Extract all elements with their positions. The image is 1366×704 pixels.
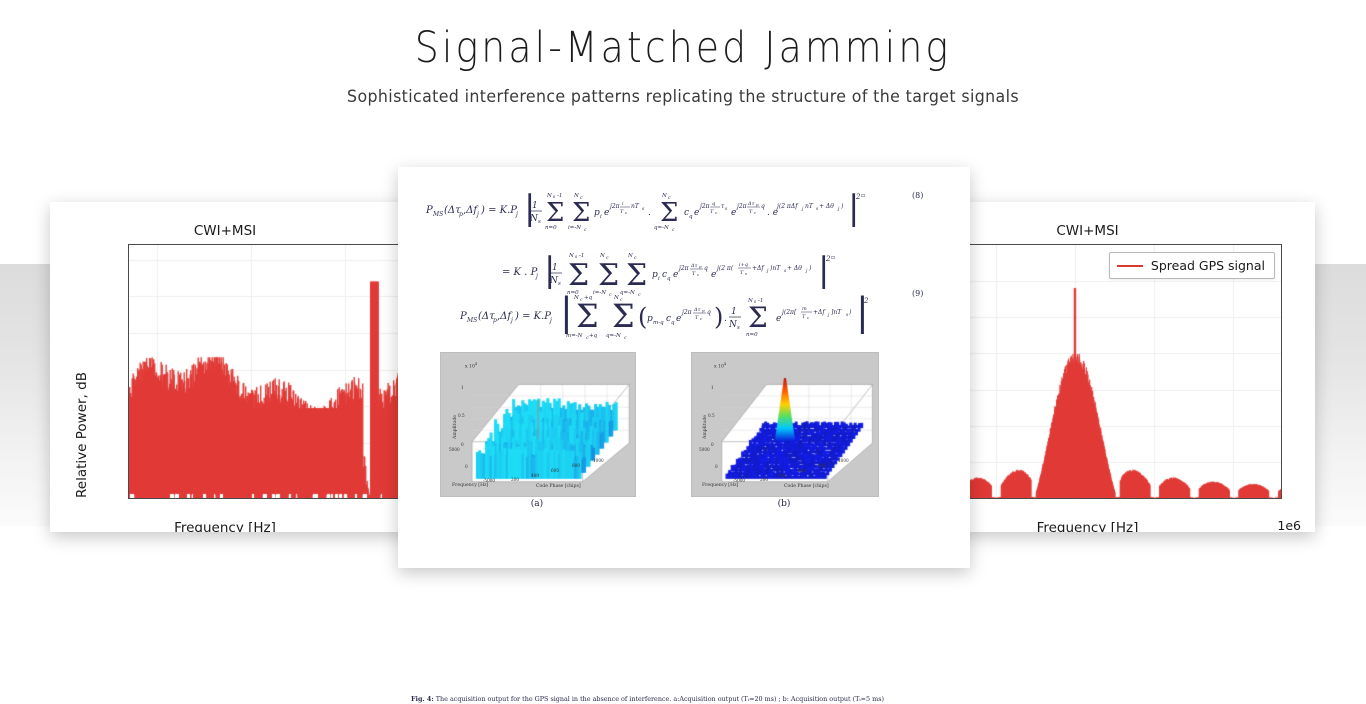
subplot-a-phasetick: 200 [511,477,519,482]
svg-text:.: . [724,314,727,324]
svg-text:.: . [648,208,651,218]
svg-text:i: i [600,214,602,220]
svg-text:N: N [546,193,552,199]
svg-text:j: j [805,268,808,274]
legend-line-icon [1117,265,1143,267]
equation-9-block: P MS (Δτ p ,Δf j ) = K.P j | Σ N c +q m=… [398,275,970,355]
equation-8-number: (8) [912,191,923,200]
page-header: Signal-Matched Jamming Sophisticated int… [0,0,1366,107]
svg-text:c: c [700,316,703,321]
subplot-a-phasetick: 400 [531,473,539,478]
svg-text:m=-N: m=-N [566,333,583,339]
svg-text:) = K.P: ) = K.P [480,205,517,216]
svg-text:e: e [604,208,609,218]
svg-text:Δτ: Δτ [690,263,698,269]
subplot-b-freqtick: 5000 [699,447,710,452]
svg-text:T: T [695,315,699,321]
svg-text:c: c [624,336,627,341]
svg-text:Σ: Σ [748,301,768,334]
svg-text:T: T [749,209,753,215]
svg-text:j: j [801,206,804,212]
svg-text:e: e [731,208,736,218]
svg-text:j: j [766,268,769,274]
svg-text:-1: -1 [758,298,763,304]
svg-text:Δτ: Δτ [747,201,755,207]
subplot-b-phasetick: 1000 [838,458,849,463]
svg-text:q: q [707,309,711,316]
svg-text:j2π: j2π [608,203,621,210]
subplot-b-freqtick: 0 [715,464,718,469]
subplot-b-exponent: x 104 [714,362,726,370]
svg-text:N: N [573,193,579,199]
subplot-b-phasetick: 600 [798,468,806,473]
svg-text:q: q [704,265,708,272]
subplot-b-ytick: 0.5 [708,413,715,418]
subplot-b-xlabel: Frequency [Hz] [702,483,738,488]
subplot-b-ytick: 0 [711,442,714,447]
svg-text:Δτ: Δτ [693,307,701,313]
svg-text:n=0: n=0 [746,332,758,338]
subplot-b-figure: x 104 Amplitude 1 0.5 0 5000 0 -5000 200… [691,352,879,497]
right-spectrum-trace [960,245,1281,498]
svg-text:q=-N: q=-N [654,225,669,231]
svg-text:MS: MS [466,317,477,324]
svg-text:(: ( [638,303,647,331]
paper-excerpt-panel: P MS (Δτ p ,Δf j ) = K.P j | 1 N s Σ N s [398,167,970,568]
svg-text:Σ: Σ [660,198,678,228]
subplot-a-exponent: x 104 [465,362,477,370]
svg-text:nT: nT [631,203,640,210]
svg-text:e: e [676,314,681,324]
svg-text:j: j [827,312,830,318]
svg-text:-1: -1 [579,253,584,259]
svg-text:i+q: i+q [739,262,748,268]
right-x-exponent-label: 1e6 [1277,518,1301,532]
svg-text:Σ: Σ [572,198,590,228]
subplot-b-exponent-base: x 10 [714,365,724,370]
svg-text:c: c [584,228,587,233]
svg-text:): ) [714,303,723,331]
svg-text:2: 2 [863,297,869,305]
svg-text:)nT: )nT [769,265,781,272]
svg-text:MS: MS [432,211,443,218]
svg-text:q=-N: q=-N [606,333,621,339]
svg-text:e: e [776,314,781,324]
subplot-b-phasetick: 400 [779,473,787,478]
right-plot-area: −4 −2 0 2 4 Spread GPS signal [960,244,1282,499]
svg-text:▫: ▫ [861,192,865,199]
svg-text:s: s [538,219,541,225]
subplot-b-ytick: 1 [711,385,714,390]
svg-text:T: T [710,209,714,215]
left-y-axis-label: Relative Power, dB [74,372,90,498]
svg-text:c: c [672,228,675,233]
svg-text:N: N [747,298,753,304]
subplot-b-caption: (b) [691,499,877,509]
subplot-a-exponent-base: x 10 [465,365,475,370]
svg-text:j2π: j2π [698,203,711,210]
svg-text:c: c [715,210,718,215]
svg-text:+Δf: +Δf [813,309,826,316]
svg-text:P: P [459,311,467,322]
svg-text:n=0: n=0 [545,225,557,231]
svg-text:c: c [807,315,810,320]
svg-text:P: P [425,205,433,216]
svg-text:+ Δθ: + Δθ [787,265,802,272]
svg-text:T: T [620,209,624,215]
figure-caption-text: The acquisition output for the GPS signa… [436,695,884,703]
svg-text:s: s [642,207,645,212]
svg-text:+q: +q [584,295,593,301]
svg-text:N: N [661,193,667,199]
subplot-a-ylabel: Amplitude [453,415,458,439]
svg-text:-1: -1 [557,193,562,199]
svg-text:1: 1 [552,263,558,273]
svg-text:N: N [627,253,633,259]
svg-text:|: | [560,290,573,334]
page-title: Signal-Matched Jamming [82,26,1284,71]
svg-text:i=-N: i=-N [568,225,581,231]
subplot-a-ytick: 0.5 [458,413,465,418]
subplot-a-exponent-sup: 4 [475,362,477,366]
svg-text:+ Δθ: + Δθ [819,203,834,210]
figure-caption-label: Fig. 4: [411,695,434,703]
subplot-b-exponent-sup: 4 [724,362,726,366]
svg-text:Σ: Σ [612,297,635,335]
subplot-b-ylabel: Amplitude [703,415,708,439]
svg-text:1: 1 [532,201,538,211]
svg-text:nT: nT [805,203,814,210]
svg-text:+q: +q [589,333,598,339]
svg-text:c: c [625,210,628,215]
svg-text:q: q [689,214,693,220]
svg-text:j(2π[: j(2π[ [780,309,797,316]
subplot-a-ytick: 1 [461,385,464,390]
svg-text:▫: ▫ [831,254,835,261]
subplot-a-ytick: 0 [461,442,464,447]
svg-text:) = K.P: ) = K.P [514,311,551,322]
subplot-a-freqtick: 5000 [449,447,460,452]
right-chart-panel: CWI+MSI −4 −2 0 2 4 Spread GPS signal Fr… [960,202,1315,532]
svg-text:N: N [613,295,619,301]
svg-text:j2π: j2π [680,309,693,316]
subplot-a-phasetick: 600 [551,468,559,473]
right-legend-label: Spread GPS signal [1151,258,1265,273]
subplot-a-freqtick: 0 [465,464,468,469]
svg-text:p: p [756,202,759,207]
svg-text:m-q: m-q [653,320,664,326]
svg-text:j: j [837,206,840,212]
subplot-a-phasetick: 1000 [593,458,604,463]
right-chart-title: CWI+MSI [960,223,1315,239]
page-subtitle: Sophisticated interference patterns repl… [48,87,1318,107]
subplot-a-xlabel: Frequency [Hz] [452,483,488,488]
svg-text:): ) [840,203,844,210]
subplot-a-figure: x 104 Amplitude 1 0.5 0 5000 0 -5000 200… [440,352,636,497]
svg-text:s: s [737,325,740,331]
paper-content: P MS (Δτ p ,Δf j ) = K.P j | 1 N s Σ N s [398,167,970,568]
svg-text:Σ: Σ [546,198,564,228]
right-x-axis-label: Frequency [Hz] [960,520,1315,532]
subplot-a-caption: (a) [440,499,634,509]
svg-text:+Δf: +Δf [752,265,765,272]
svg-text:s: s [725,207,728,212]
subplot-b-zlabel: Code Phase [chips] [784,484,829,489]
right-chart-legend: Spread GPS signal [1109,252,1275,279]
svg-text:T: T [802,314,806,320]
svg-text:j(2 π(: j(2 π( [715,265,734,272]
svg-text:j(2 πΔf: j(2 πΔf [775,203,799,210]
subplot-a-phasetick: 800 [572,463,580,468]
svg-text:): ) [848,309,852,316]
equation-9-svg: P MS (Δτ p ,Δf j ) = K.P j | Σ N c +q m=… [398,275,970,355]
equation-9-number: (9) [912,289,923,298]
svg-text:): ) [808,265,812,272]
svg-text:p: p [702,308,705,313]
svg-text:p: p [699,264,702,269]
svg-text:N: N [599,253,605,259]
svg-text:m: m [802,306,807,312]
svg-text:i: i [622,201,624,207]
svg-text:q: q [761,203,765,210]
svg-text:q: q [671,320,675,326]
subplot-b-phasetick: 800 [818,463,826,468]
svg-text:N: N [573,295,579,301]
svg-text:j2π: j2π [735,203,748,210]
svg-text:N: N [568,253,574,259]
subplot-b-phasetick: 200 [760,477,768,482]
svg-text:q: q [712,201,715,207]
svg-text:e: e [694,208,699,218]
right-figure: CWI+MSI −4 −2 0 2 4 Spread GPS signal Fr… [960,202,1315,532]
svg-text:j2π: j2π [677,265,690,272]
figure-caption: Fig. 4: The acquisition output for the G… [411,695,957,704]
svg-text:c: c [754,210,757,215]
svg-text:1: 1 [731,307,737,317]
svg-text:]nT: ]nT [830,309,842,316]
subplot-a-zlabel: Code Phase [chips] [536,484,581,489]
